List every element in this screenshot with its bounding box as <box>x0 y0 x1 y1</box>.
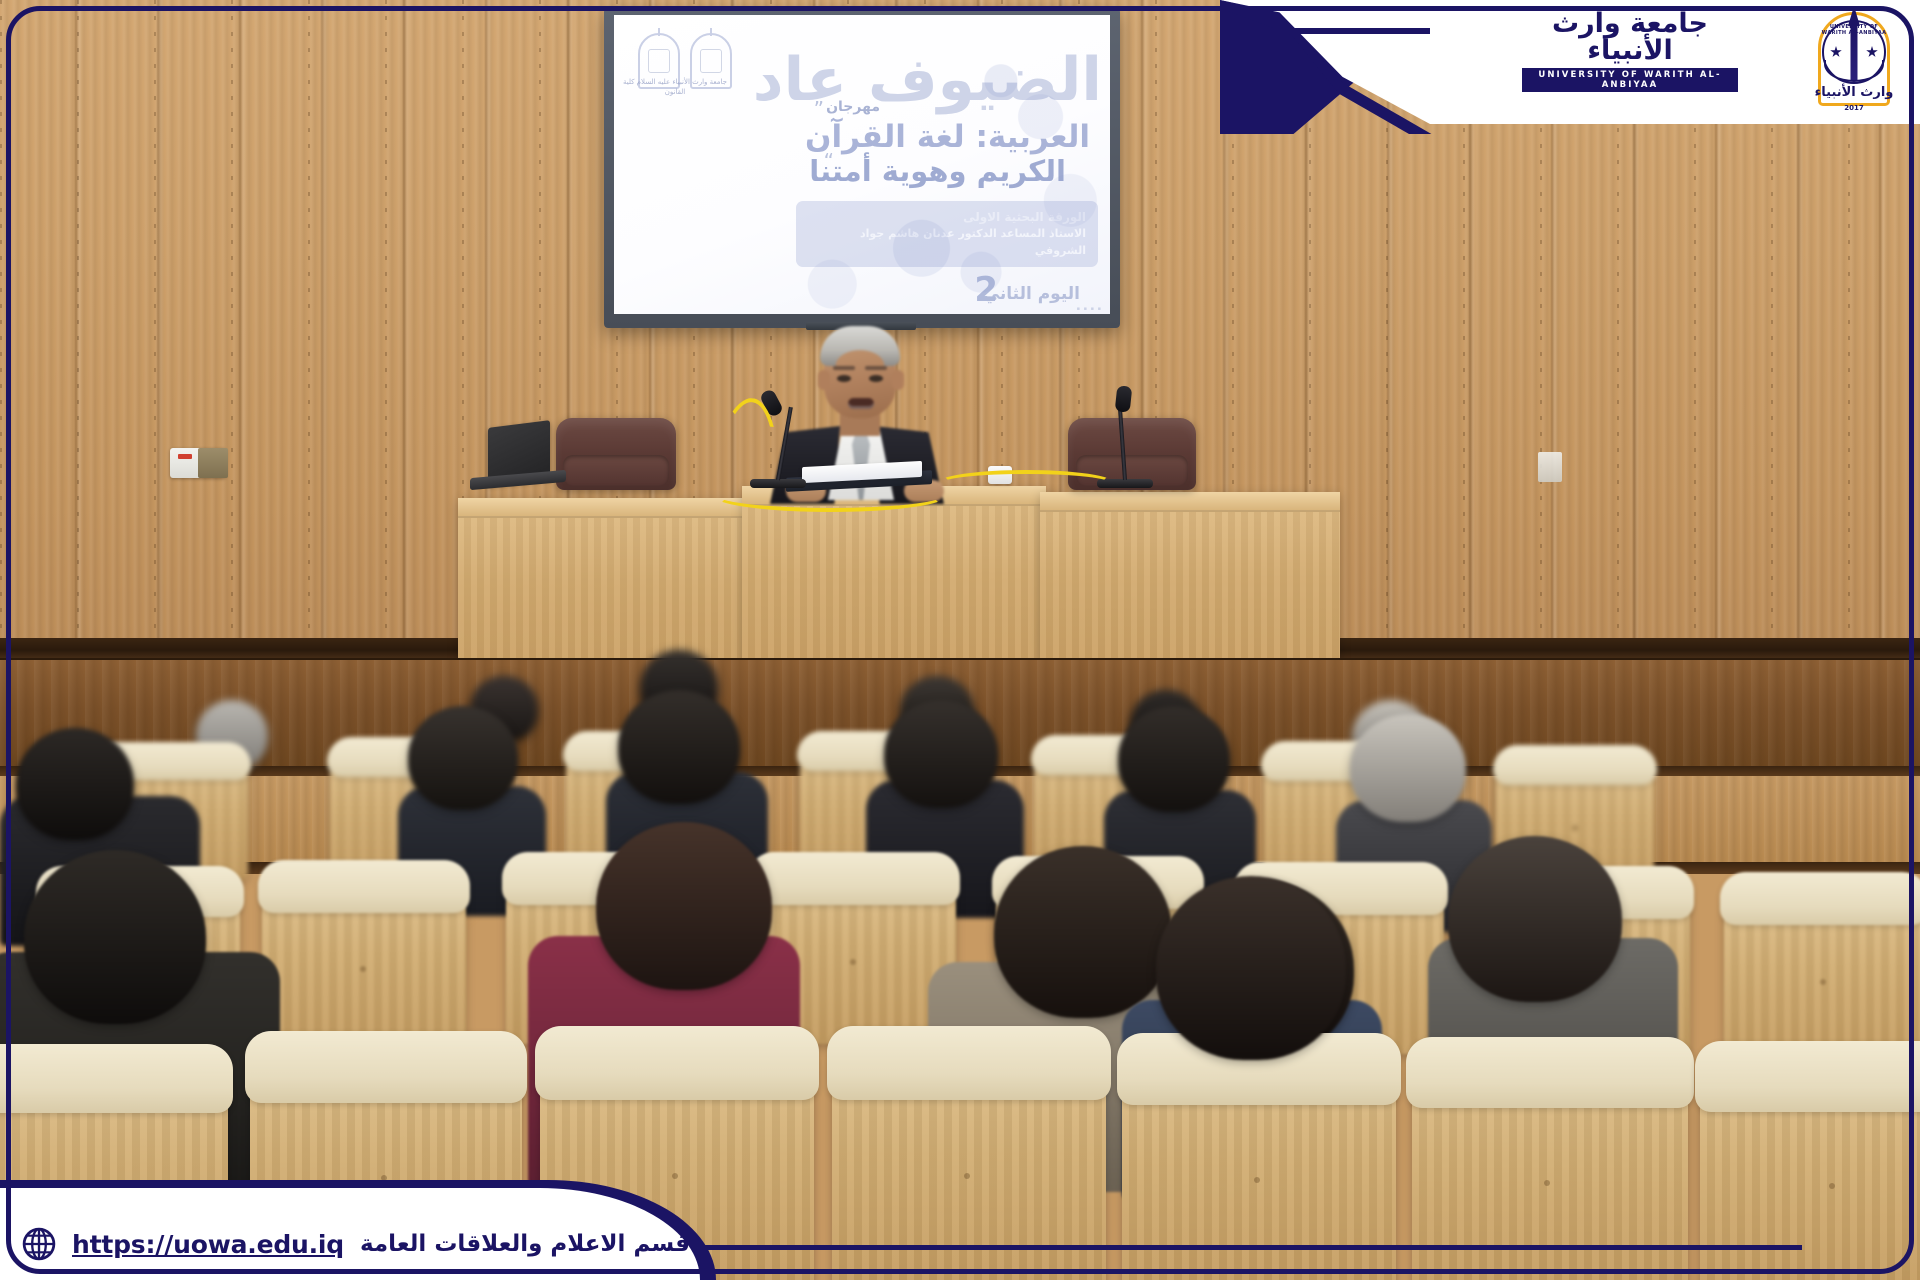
audience-head <box>884 700 998 808</box>
audience-head <box>1448 836 1622 1002</box>
audience-head <box>1118 706 1230 812</box>
slide-day-label: اليوم الثاني <box>983 284 1080 304</box>
slide-paper-author: الاستاذ المساعد الدكتور عدنان هاشم جواد … <box>808 226 1086 259</box>
slide-emblems <box>638 33 732 89</box>
speaker-brow-right <box>865 366 887 370</box>
slide-footer-marks: ▪ ▪ ▪ ▪ <box>1077 306 1102 312</box>
university-emblem-icon <box>638 33 680 89</box>
speaker-eye-right <box>869 375 883 382</box>
audience-head <box>994 846 1172 1018</box>
slide-paper-title: الورقة البحثية الاولى <box>808 208 1086 226</box>
header-accent-rule <box>1242 28 1430 34</box>
law-college-emblem-icon <box>690 33 732 89</box>
wall-socket-brass <box>198 448 228 478</box>
audience-head <box>618 690 740 804</box>
university-seal-logo: UNIVERSITY OF WARITH AL-ANBIYAA وارث الأ… <box>1810 6 1898 116</box>
screenshot-root: جامعة وارث الأنبياء عليه السلام كلية الق… <box>0 0 1920 1280</box>
globe-icon <box>22 1227 56 1261</box>
slide-emblem-caption: جامعة وارث الأنبياء عليه السلام كلية الق… <box>620 77 730 97</box>
yellow-mic-cable-3 <box>938 470 1114 496</box>
footer-content: https://uowa.edu.iq قسم الاعلام والعلاقا… <box>22 1222 696 1266</box>
microphone-right <box>1090 386 1160 488</box>
speaker-hair <box>820 326 900 366</box>
speaker-ear-left <box>818 370 830 390</box>
slide-title-line-2: الكريم وهوية أمتنا <box>809 154 1066 188</box>
seal-pen-nib-icon <box>1848 6 1860 26</box>
seal-arabic-text: وارث الأنبياء <box>1810 85 1898 100</box>
photograph: جامعة وارث الأنبياء عليه السلام كلية الق… <box>0 0 1920 1280</box>
wordmark-english: UNIVERSITY OF WARITH AL-ANBIYAA <box>1522 68 1738 92</box>
projector-screen-frame: جامعة وارث الأنبياء عليه السلام كلية الق… <box>604 8 1120 328</box>
slide-paper-badge: الورقة البحثية الاولى الاستاذ المساعد ال… <box>796 201 1098 267</box>
speaker-mouth <box>848 398 874 409</box>
slide-headline-word: الضيوف عاد <box>753 45 1102 115</box>
audience-head <box>1350 714 1466 822</box>
wordmark-arabic: جامعة وارث الأنبياء <box>1522 10 1738 64</box>
speaker-brow-left <box>833 366 855 370</box>
wall-socket-indicator <box>178 454 192 459</box>
yellow-mic-cable-2 <box>712 478 948 512</box>
slide-day-number: 2 <box>974 270 998 310</box>
slide-quote-close: “ <box>824 149 834 173</box>
footer-department-label: قسم الاعلام والعلاقات العامة <box>360 1231 690 1257</box>
microphone-right-neck <box>1118 404 1127 480</box>
slide-title-line-1: العربية: لغة القرآن <box>805 119 1090 155</box>
seal-year: 2017 <box>1810 104 1898 112</box>
audience-head <box>596 822 772 990</box>
audience-head <box>408 706 518 810</box>
footer-website-link[interactable]: https://uowa.edu.iq <box>72 1230 344 1259</box>
audience-seat <box>262 874 466 1050</box>
footer-accent-rule <box>692 1245 1802 1250</box>
microphone-left-neck <box>776 407 793 481</box>
slide-kicker: مهرجان <box>826 99 880 115</box>
audience-head <box>24 850 206 1024</box>
speaker-eye-left <box>837 375 851 382</box>
university-wordmark: جامعة وارث الأنبياء UNIVERSITY OF WARITH… <box>1522 10 1738 92</box>
projector-screen-surface: جامعة وارث الأنبياء عليه السلام كلية الق… <box>614 15 1110 314</box>
audience-head <box>16 728 134 840</box>
slide-quote-open: ” <box>814 97 824 121</box>
audience-seat <box>1724 886 1920 1064</box>
desk-left-top <box>458 498 750 518</box>
slide-content: جامعة وارث الأنبياء عليه السلام كلية الق… <box>614 15 1110 314</box>
microphone-right-head <box>1115 385 1133 412</box>
executive-chair-left <box>556 418 676 490</box>
audience-head <box>1156 876 1346 1060</box>
desk-right-top <box>1040 492 1340 512</box>
wall-socket-right <box>1538 452 1562 482</box>
speaker-ear-right <box>892 370 904 390</box>
